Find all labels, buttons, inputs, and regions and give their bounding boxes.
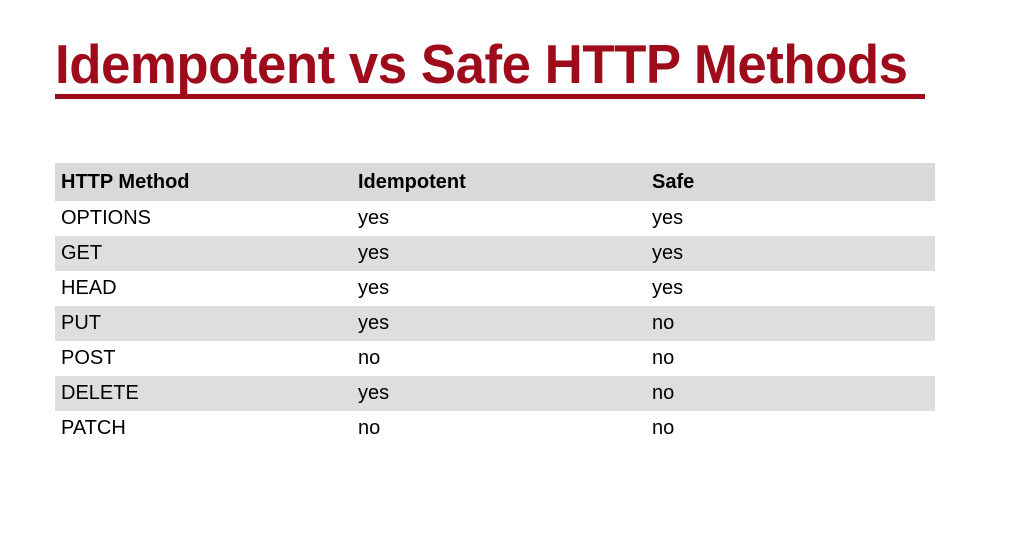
title-block: Idempotent vs Safe HTTP Methods <box>55 33 935 95</box>
column-header-http-method: HTTP Method <box>55 163 352 201</box>
cell-idempotent: no <box>352 341 646 376</box>
cell-idempotent: yes <box>352 201 646 236</box>
title-underline-rule <box>55 94 925 99</box>
cell-method: HEAD <box>55 271 352 306</box>
cell-safe: no <box>646 376 935 411</box>
cell-method: OPTIONS <box>55 201 352 236</box>
cell-idempotent: yes <box>352 271 646 306</box>
cell-method: PUT <box>55 306 352 341</box>
table-row: OPTIONS yes yes <box>55 201 935 236</box>
table-row: GET yes yes <box>55 236 935 271</box>
table-row: PUT yes no <box>55 306 935 341</box>
cell-safe: no <box>646 306 935 341</box>
table-header: HTTP Method Idempotent Safe <box>55 163 935 201</box>
cell-idempotent: no <box>352 411 646 446</box>
table-body: OPTIONS yes yes GET yes yes HEAD yes yes… <box>55 201 935 446</box>
table-row: HEAD yes yes <box>55 271 935 306</box>
column-header-safe: Safe <box>646 163 935 201</box>
column-header-idempotent: Idempotent <box>352 163 646 201</box>
cell-idempotent: yes <box>352 306 646 341</box>
cell-safe: no <box>646 411 935 446</box>
table-row: DELETE yes no <box>55 376 935 411</box>
table-header-row: HTTP Method Idempotent Safe <box>55 163 935 201</box>
cell-safe: yes <box>646 236 935 271</box>
cell-idempotent: yes <box>352 376 646 411</box>
table-row: POST no no <box>55 341 935 376</box>
cell-method: PATCH <box>55 411 352 446</box>
page-title: Idempotent vs Safe HTTP Methods <box>55 33 900 95</box>
cell-idempotent: yes <box>352 236 646 271</box>
http-methods-table: HTTP Method Idempotent Safe OPTIONS yes … <box>55 163 935 446</box>
cell-method: DELETE <box>55 376 352 411</box>
http-methods-table-container: HTTP Method Idempotent Safe OPTIONS yes … <box>55 163 935 446</box>
slide-canvas: Idempotent vs Safe HTTP Methods HTTP Met… <box>0 0 1024 553</box>
cell-safe: no <box>646 341 935 376</box>
cell-method: POST <box>55 341 352 376</box>
cell-safe: yes <box>646 271 935 306</box>
cell-method: GET <box>55 236 352 271</box>
cell-safe: yes <box>646 201 935 236</box>
table-row: PATCH no no <box>55 411 935 446</box>
